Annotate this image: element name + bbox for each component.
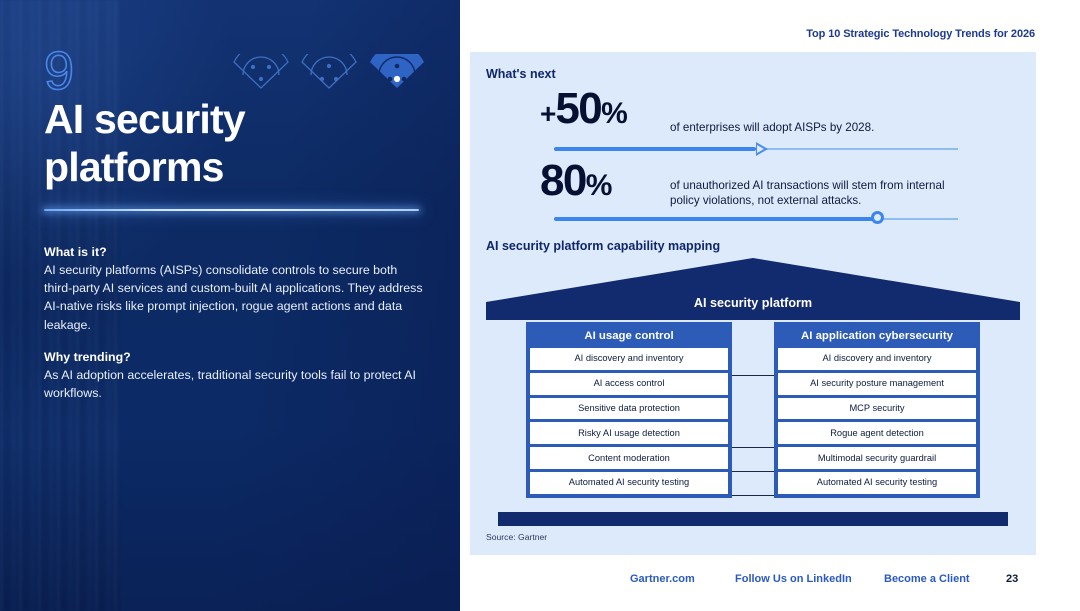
title-divider <box>44 209 419 211</box>
pillar-connector-line <box>732 495 774 496</box>
trend-icon-group <box>232 54 426 92</box>
page-number: 23 <box>1006 573 1018 585</box>
stat-value-0: +50% <box>540 87 627 136</box>
capability-mapping-heading: AI security platform capability mapping <box>486 239 720 253</box>
trend-description: What is it? AI security platforms (AISPs… <box>44 243 424 402</box>
progress-track-1[interactable] <box>554 212 958 226</box>
whats-next-card: What's next +50% of enterprises will ado… <box>470 52 1036 555</box>
stat-line-1: 80% of unauthorized AI transactions will… <box>470 162 1036 208</box>
stat-suffix-0: % <box>601 97 627 130</box>
capability-item[interactable]: Automated AI security testing <box>530 472 728 494</box>
footer-link-linkedin[interactable]: Follow Us on LinkedIn <box>735 573 852 585</box>
capability-item[interactable]: Content moderation <box>530 447 728 469</box>
pillar-ai-usage-control: AI usage control AI discovery and invent… <box>526 322 732 498</box>
arrow-marker-icon-0 <box>756 142 768 156</box>
pillar-ai-application-cybersecurity: AI application cybersecurity AI discover… <box>774 322 980 498</box>
capability-item[interactable]: AI security posture management <box>778 373 976 395</box>
pillar-connector-line <box>732 375 774 376</box>
circle-marker-icon-1 <box>871 211 884 224</box>
stat-number-1: 80 <box>540 156 586 205</box>
pillar-connector-line <box>732 447 774 448</box>
stat-suffix-1: % <box>586 169 612 202</box>
trend-number-text: 9 <box>44 41 74 101</box>
fan-dots-icon-outline-2 <box>300 54 358 92</box>
capability-item[interactable]: AI discovery and inventory <box>530 348 728 370</box>
trend-number-badge: 9 <box>44 45 104 97</box>
footer-links: Gartner.com Follow Us on LinkedIn Become… <box>460 573 1080 597</box>
stat-prefix-0: + <box>540 98 555 129</box>
stat-number-0: 50 <box>555 84 601 133</box>
pillar-title-0: AI usage control <box>530 326 728 348</box>
page-title: AI security platforms <box>44 95 434 191</box>
content-panel: Top 10 Strategic Technology Trends for 2… <box>460 0 1080 611</box>
capability-item[interactable]: MCP security <box>778 398 976 420</box>
progress-track-0[interactable] <box>554 142 958 156</box>
stat-description-0: of enterprises will adopt AISPs by 2028. <box>670 121 970 136</box>
roof-label: AI security platform <box>486 296 1020 310</box>
what-is-it-block: What is it? AI security platforms (AISPs… <box>44 243 424 334</box>
capability-item[interactable]: AI access control <box>530 373 728 395</box>
stat-line-0: +50% of enterprises will adopt AISPs by … <box>470 90 1036 136</box>
capability-item[interactable]: Risky AI usage detection <box>530 422 728 444</box>
stat-description-1: of unauthorized AI transactions will ste… <box>670 179 970 208</box>
footer-link-become-a-client[interactable]: Become a Client <box>884 573 970 585</box>
fan-dots-icon-outline-1 <box>232 54 290 92</box>
capability-item[interactable]: Multimodal security guardrail <box>778 447 976 469</box>
trend-cover-panel: 9 AI security platforms Wh <box>0 0 460 611</box>
progress-fill-1 <box>554 217 877 221</box>
why-trending-text: As AI adoption accelerates, traditional … <box>44 366 424 402</box>
source-note: Source: Gartner <box>486 532 547 542</box>
fan-dots-icon-filled-3 <box>368 54 426 92</box>
capability-mapping-diagram: AI security platform AI usage control AI… <box>486 258 1020 524</box>
stat-row-0: +50% of enterprises will adopt AISPs by … <box>470 90 1036 136</box>
deck-header-title: Top 10 Strategic Technology Trends for 2… <box>806 28 1035 40</box>
capability-item[interactable]: Sensitive data protection <box>530 398 728 420</box>
whats-next-heading: What's next <box>486 67 556 81</box>
capability-item[interactable]: Automated AI security testing <box>778 472 976 494</box>
roof-pediment-shape <box>486 258 1020 320</box>
progress-fill-0 <box>554 147 756 151</box>
pillar-title-1: AI application cybersecurity <box>778 326 976 348</box>
base-platform-bar <box>498 512 1008 526</box>
pillar-connector-line <box>732 471 774 472</box>
what-is-it-heading: What is it? <box>44 243 424 261</box>
what-is-it-text: AI security platforms (AISPs) consolidat… <box>44 261 424 334</box>
why-trending-heading: Why trending? <box>44 348 424 366</box>
why-trending-block: Why trending? As AI adoption accelerates… <box>44 348 424 402</box>
stat-value-1: 80% <box>540 159 611 208</box>
footer-link-gartner-site[interactable]: Gartner.com <box>630 573 695 585</box>
capability-item[interactable]: AI discovery and inventory <box>778 348 976 370</box>
capability-item[interactable]: Rogue agent detection <box>778 422 976 444</box>
stat-row-1: 80% of unauthorized AI transactions will… <box>470 162 1036 208</box>
